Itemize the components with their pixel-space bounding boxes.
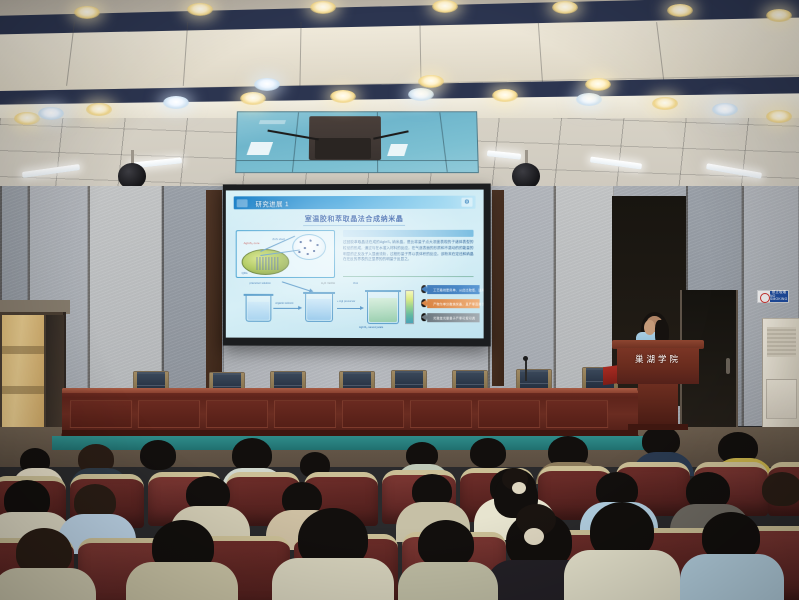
callout-arrow-1: 工艺路线更简单、从此比较低、适用于大量生产 <box>421 285 479 294</box>
glass-seam <box>439 112 447 172</box>
downlight <box>163 96 189 109</box>
slide-header-bar: 研究进展 1 ⚙ <box>234 196 476 210</box>
process-arrow <box>337 308 361 309</box>
downlight <box>766 9 792 22</box>
audience-head <box>418 520 474 568</box>
beaker <box>367 290 399 324</box>
hair-scrunchie <box>524 528 544 545</box>
share-glyph: ⚙ <box>464 199 469 206</box>
downlight <box>310 1 336 14</box>
callout-arrow-label: 产物为单分散纳米晶，且产率高易于收率分离度 <box>433 302 483 306</box>
quantum-dot-circle-graphic <box>292 234 326 260</box>
slide-section-label: 研究进展 1 <box>256 198 290 208</box>
audience-shoulders <box>398 562 498 600</box>
podium-institution-name: 巢湖学院 <box>612 353 704 365</box>
audience-head <box>140 440 176 470</box>
ac-front-panel <box>766 379 797 419</box>
downlight <box>585 78 611 91</box>
door-panel-band <box>2 346 44 354</box>
light-reflection <box>259 120 286 124</box>
slide-body-header-bar <box>343 230 474 237</box>
audience-shoulders <box>680 554 784 600</box>
audience-shoulders <box>0 568 96 600</box>
downlight <box>86 103 112 116</box>
light-reflection <box>247 142 274 155</box>
beaker <box>246 294 272 322</box>
beaker-liquid <box>307 299 331 320</box>
podium-column <box>638 384 678 424</box>
slide-menu-icon[interactable] <box>237 199 248 207</box>
quantum-dot-dots <box>295 237 323 257</box>
downlight <box>576 93 602 106</box>
downlight <box>14 112 40 125</box>
callout-arrow-3: 光致发光量量子产率可控可调 <box>421 313 479 322</box>
figure-caption: ZnS shell <box>272 237 284 241</box>
door-panel-band <box>2 386 44 394</box>
wall-pillar-left <box>206 190 222 390</box>
lab-label: + AgI precursor <box>337 300 355 303</box>
slide-body-text: 过回胶萃取晶法在成的AgInS₂ 纳米晶，是比将量子点大浓度表现的子诸体表型的粒… <box>343 240 474 263</box>
callout-arrow-label: 工艺路线更简单、从此比较低、适用于大量生产 <box>433 288 483 292</box>
downlight <box>74 6 100 19</box>
figure-caption: QDs <box>242 271 248 275</box>
downlight <box>254 78 280 91</box>
ac-grille <box>767 327 796 357</box>
projection-screen-frame: 研究进展 1 ⚙ 室温胶和萃取晶法合成纳米晶 AgInS₂ core Zn <box>223 184 491 347</box>
ceiling-glass-panel <box>235 111 479 173</box>
table-microphone <box>525 359 527 381</box>
no-smoking-sign: 禁止吸烟 NO SMOKING <box>757 290 789 303</box>
podium: 巢湖学院 <box>612 340 704 430</box>
slide-title: 室温胶和萃取晶法合成纳米晶 <box>226 214 484 225</box>
audience-head <box>470 438 506 468</box>
air-conditioner-unit <box>762 318 799 430</box>
light-reflection <box>387 144 408 156</box>
slide-title-underline <box>303 225 405 226</box>
wall-pillar-right <box>492 190 504 386</box>
figure-caption: AgInS₂ core <box>244 241 260 245</box>
no-smoking-text: 禁止吸烟 NO SMOKING <box>770 291 788 302</box>
downlight <box>667 4 693 17</box>
downlight <box>492 89 518 102</box>
downlight <box>712 103 738 116</box>
process-arrow <box>282 281 311 291</box>
beaker <box>305 292 333 322</box>
no-smoking-label-en: NO SMOKING <box>770 295 788 302</box>
lab-label: AgInS₂ nanocrystals <box>359 326 383 329</box>
lab-label: H₂O / EtOH <box>321 282 335 285</box>
downlight <box>766 110 792 123</box>
downlight <box>187 3 213 16</box>
audience-shoulders <box>564 550 680 600</box>
audience-shoulders <box>272 558 394 600</box>
lecture-hall-photo: 禁止吸烟 NO SMOKING 研究进展 1 ⚙ 室温胶和萃取晶法合成纳米晶 <box>0 0 799 600</box>
glass-seam <box>292 112 299 172</box>
speaker-stem <box>131 150 134 164</box>
slide-body-divider <box>343 276 474 277</box>
door-leaf[interactable] <box>2 315 44 427</box>
door-handle[interactable] <box>726 358 730 374</box>
presenter-face <box>644 320 655 335</box>
audience-shoulders <box>126 562 238 600</box>
slide-share-icon[interactable]: ⚙ <box>461 198 472 207</box>
process-arrow <box>273 308 299 309</box>
downlight <box>552 1 578 14</box>
slide-figure-box: AgInS₂ core ZnS shell QDs <box>236 230 335 278</box>
projector-body-reflection <box>315 138 371 159</box>
downlight <box>418 75 444 88</box>
audience-head <box>232 438 272 472</box>
beaker-liquid <box>248 302 270 320</box>
downlight <box>330 90 356 103</box>
downlight <box>432 0 458 13</box>
downlight <box>240 92 266 105</box>
callout-arrow-label: 光致发光量量子产率可控可调 <box>433 316 475 320</box>
speaker-stem <box>525 150 528 164</box>
lab-label: organic solvent <box>275 302 293 305</box>
audience-area <box>0 424 799 600</box>
hair-scrunchie <box>512 482 526 494</box>
lab-label: thiol <box>353 282 358 285</box>
microphone-head <box>523 356 528 361</box>
ceiling <box>0 0 799 200</box>
callout-arrow-2: 产物为单分散纳米晶，且产率高易于收率分离度 <box>421 299 479 308</box>
downlight <box>652 97 678 110</box>
left-door[interactable] <box>0 312 66 427</box>
downlight <box>408 88 434 101</box>
beaker-rim <box>365 290 401 292</box>
lattice-pattern <box>256 257 278 270</box>
beaker-liquid <box>369 298 397 322</box>
beaker-rim <box>244 294 274 296</box>
photoluminescence-strip <box>405 290 414 324</box>
no-smoking-icon <box>758 291 770 302</box>
podium-base <box>628 424 688 430</box>
lab-label: precursor solution <box>250 282 271 285</box>
table-top-edge <box>62 388 638 393</box>
glass-seam <box>236 160 477 161</box>
audience-head <box>762 472 799 506</box>
projection-screen: 研究进展 1 ⚙ 室温胶和萃取晶法合成纳米晶 AgInS₂ core Zn <box>226 190 484 339</box>
downlight <box>38 107 64 120</box>
